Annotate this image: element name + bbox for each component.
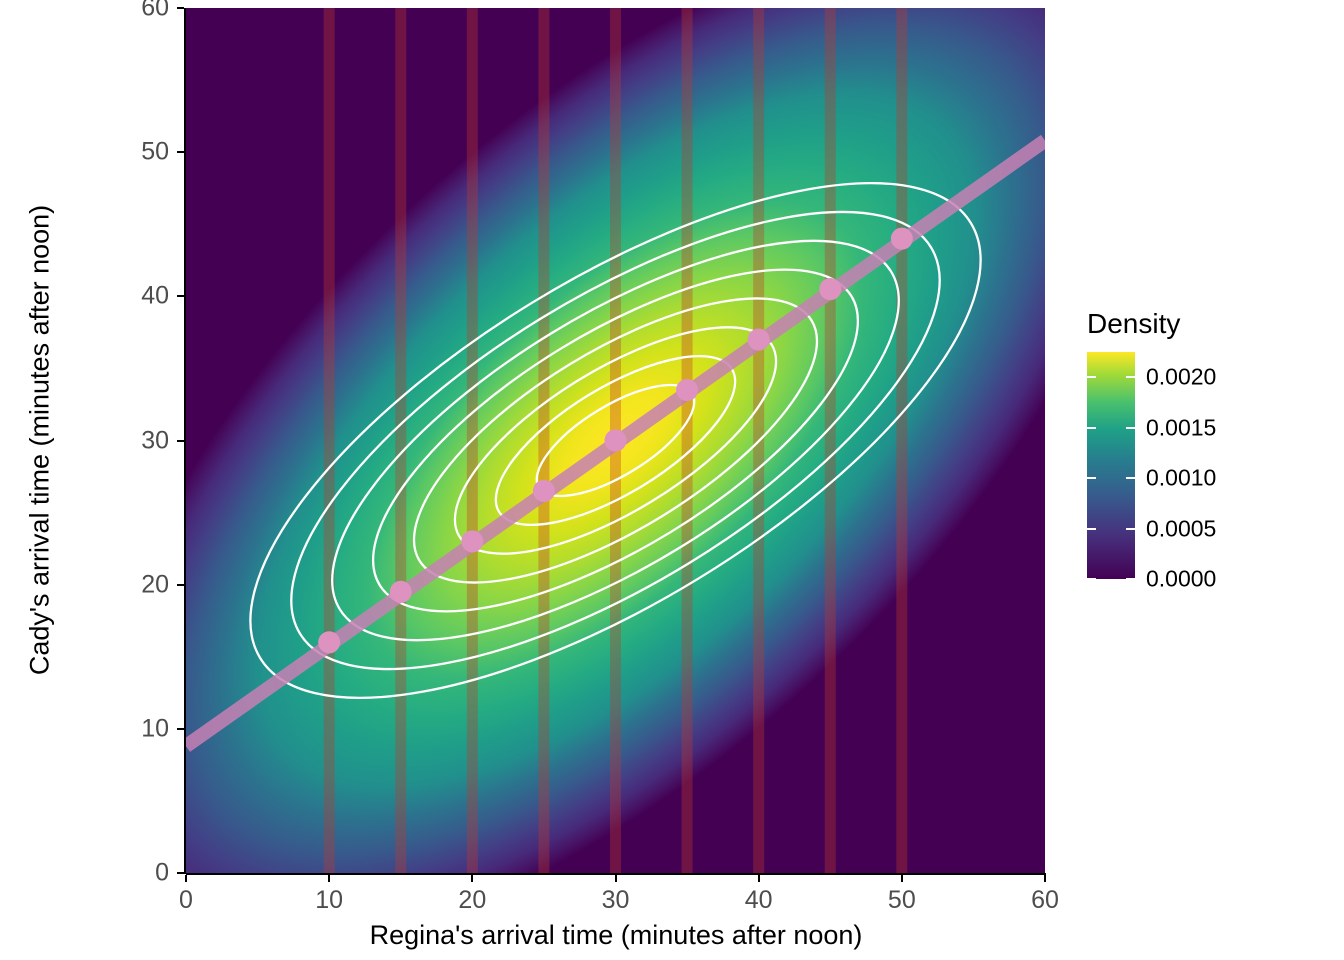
legend-colorbar — [1087, 352, 1135, 579]
conditional-mean-point — [318, 631, 340, 653]
conditional-mean-point — [891, 228, 913, 250]
x-tick-label: 40 — [745, 886, 773, 915]
x-tick-label: 50 — [888, 886, 916, 915]
legend-tick-mark — [1087, 427, 1096, 429]
legend-tick-mark — [1087, 376, 1096, 378]
y-tick-label: 40 — [141, 282, 169, 311]
y-tick-mark — [177, 440, 184, 442]
legend-tick-label: 0.0000 — [1146, 566, 1216, 593]
y-axis-title: Cady's arrival time (minutes after noon) — [25, 205, 56, 675]
legend-tick-mark — [1087, 477, 1096, 479]
y-tick-label: 50 — [141, 138, 169, 167]
x-tick-mark — [185, 875, 187, 882]
conditional-mean-point — [819, 278, 841, 300]
conditional-mean-point — [533, 480, 555, 502]
x-tick-label: 30 — [602, 886, 630, 915]
y-tick-label: 0 — [155, 859, 169, 888]
legend-title: Density — [1087, 308, 1180, 340]
x-tick-label: 10 — [315, 886, 343, 915]
legend-tick-mark — [1087, 528, 1096, 530]
density-plot-figure: 0102030405060 0102030405060 Regina's arr… — [0, 0, 1344, 960]
legend-tick-mark — [1126, 578, 1135, 580]
x-tick-mark — [615, 875, 617, 882]
x-tick-mark — [901, 875, 903, 882]
legend-tick-mark — [1126, 376, 1135, 378]
conditional-mean-point — [748, 329, 770, 351]
x-tick-mark — [758, 875, 760, 882]
x-tick-label: 60 — [1031, 886, 1059, 915]
legend-tick-label: 0.0005 — [1146, 515, 1216, 542]
x-tick-label: 0 — [179, 886, 193, 915]
y-tick-label: 60 — [141, 0, 169, 23]
legend-tick-mark — [1126, 528, 1135, 530]
conditional-mean-point — [605, 429, 627, 451]
x-tick-mark — [471, 875, 473, 882]
y-tick-mark — [177, 151, 184, 153]
density-legend: Density 0.00000.00050.00100.00150.0020 — [1080, 300, 1310, 600]
vertical-slice — [825, 8, 836, 873]
y-tick-label: 10 — [141, 714, 169, 743]
y-tick-label: 30 — [141, 426, 169, 455]
legend-tick-mark — [1126, 427, 1135, 429]
legend-tick-label: 0.0020 — [1146, 364, 1216, 391]
vertical-slice — [395, 8, 406, 873]
y-tick-label: 20 — [141, 570, 169, 599]
x-axis-title: Regina's arrival time (minutes after noo… — [370, 920, 863, 951]
x-tick-mark — [328, 875, 330, 882]
vertical-slice — [538, 8, 549, 873]
plot-canvas — [186, 8, 1045, 873]
conditional-mean-point — [461, 530, 483, 552]
x-tick-mark — [1044, 875, 1046, 882]
legend-tick-mark — [1087, 578, 1096, 580]
conditional-mean-point — [676, 379, 698, 401]
vertical-slice — [896, 8, 907, 873]
legend-tick-label: 0.0010 — [1146, 465, 1216, 492]
y-tick-mark — [177, 728, 184, 730]
y-tick-mark — [177, 295, 184, 297]
y-axis-line — [184, 8, 186, 874]
y-tick-mark — [177, 872, 184, 874]
legend-tick-label: 0.0015 — [1146, 414, 1216, 441]
plot-panel — [186, 8, 1045, 873]
x-tick-label: 20 — [458, 886, 486, 915]
vertical-slice — [324, 8, 335, 873]
y-tick-mark — [177, 7, 184, 9]
conditional-mean-point — [390, 581, 412, 603]
vertical-slice — [682, 8, 693, 873]
legend-tick-mark — [1126, 477, 1135, 479]
y-tick-mark — [177, 584, 184, 586]
